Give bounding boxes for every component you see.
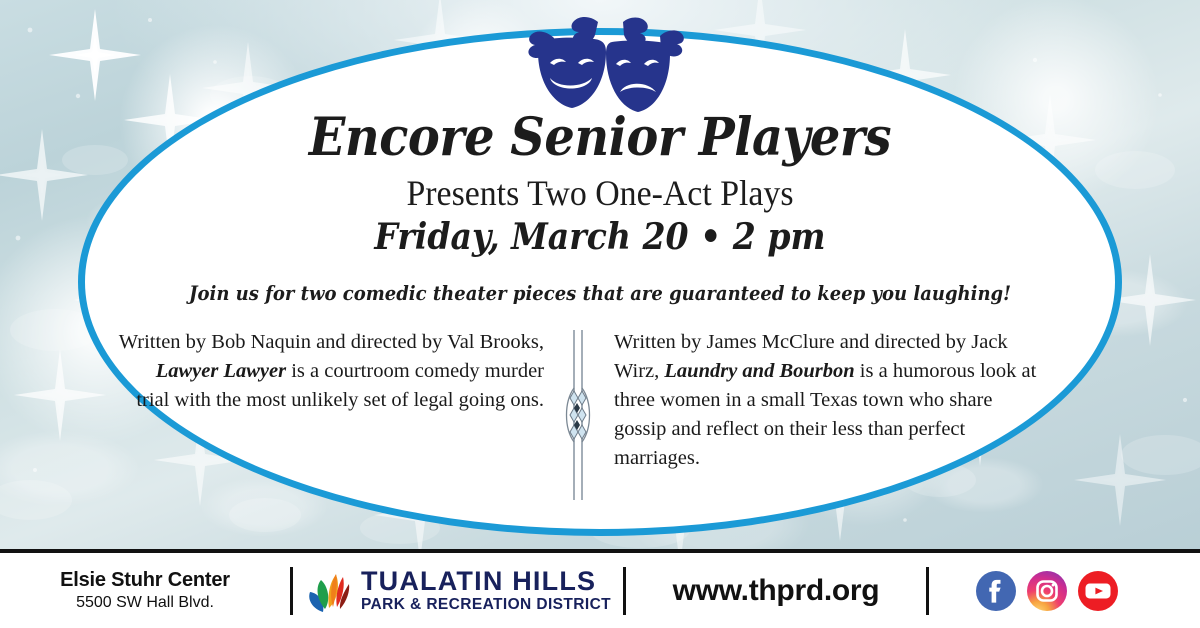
venue-name: Elsie Stuhr Center xyxy=(60,569,230,592)
headline-block: Encore Senior Players Presents Two One-A… xyxy=(80,110,1120,305)
thprd-logo[interactable]: TUALATIN HILLS PARK & RECREATION DISTRIC… xyxy=(293,553,623,628)
event-datetime: Friday, March 20 • 2 pm xyxy=(122,217,1079,258)
website-url[interactable]: www.thprd.org xyxy=(626,553,926,628)
play-left-title: Lawyer Lawyer xyxy=(156,360,286,382)
play-descriptions: Written by Bob Naquin and directed by Va… xyxy=(118,328,1078,498)
event-poster: Encore Senior Players Presents Two One-A… xyxy=(0,0,1200,628)
footer-bar: Elsie Stuhr Center 5500 SW Hall Blvd. TU… xyxy=(0,553,1200,628)
play-description-left: Written by Bob Naquin and directed by Va… xyxy=(118,328,558,415)
poster-tagline: Join us for two comedic theater pieces t… xyxy=(132,281,1068,305)
play-left-leadin: Written by Bob Naquin and directed by Va… xyxy=(119,331,544,353)
thprd-leaf-fan-icon xyxy=(305,569,351,613)
youtube-icon[interactable] xyxy=(1077,570,1119,612)
thprd-wordmark: TUALATIN HILLS PARK & RECREATION DISTRIC… xyxy=(361,568,611,613)
social-links xyxy=(929,553,1165,628)
poster-subtitle: Presents Two One-Act Plays xyxy=(111,172,1089,215)
thprd-line-2: PARK & RECREATION DISTRICT xyxy=(361,596,611,613)
play-description-right: Written by James McClure and directed by… xyxy=(598,328,1038,474)
instagram-icon[interactable] xyxy=(1026,570,1068,612)
venue-info: Elsie Stuhr Center 5500 SW Hall Blvd. xyxy=(0,553,290,628)
venue-address: 5500 SW Hall Blvd. xyxy=(76,594,214,612)
theater-masks-icon xyxy=(510,8,690,112)
ornamental-divider-icon xyxy=(558,330,598,500)
play-right-title: Laundry and Bourbon xyxy=(664,360,854,382)
facebook-icon[interactable] xyxy=(975,570,1017,612)
page-title: Encore Senior Players xyxy=(122,110,1079,166)
thprd-line-1: TUALATIN HILLS xyxy=(361,568,611,596)
